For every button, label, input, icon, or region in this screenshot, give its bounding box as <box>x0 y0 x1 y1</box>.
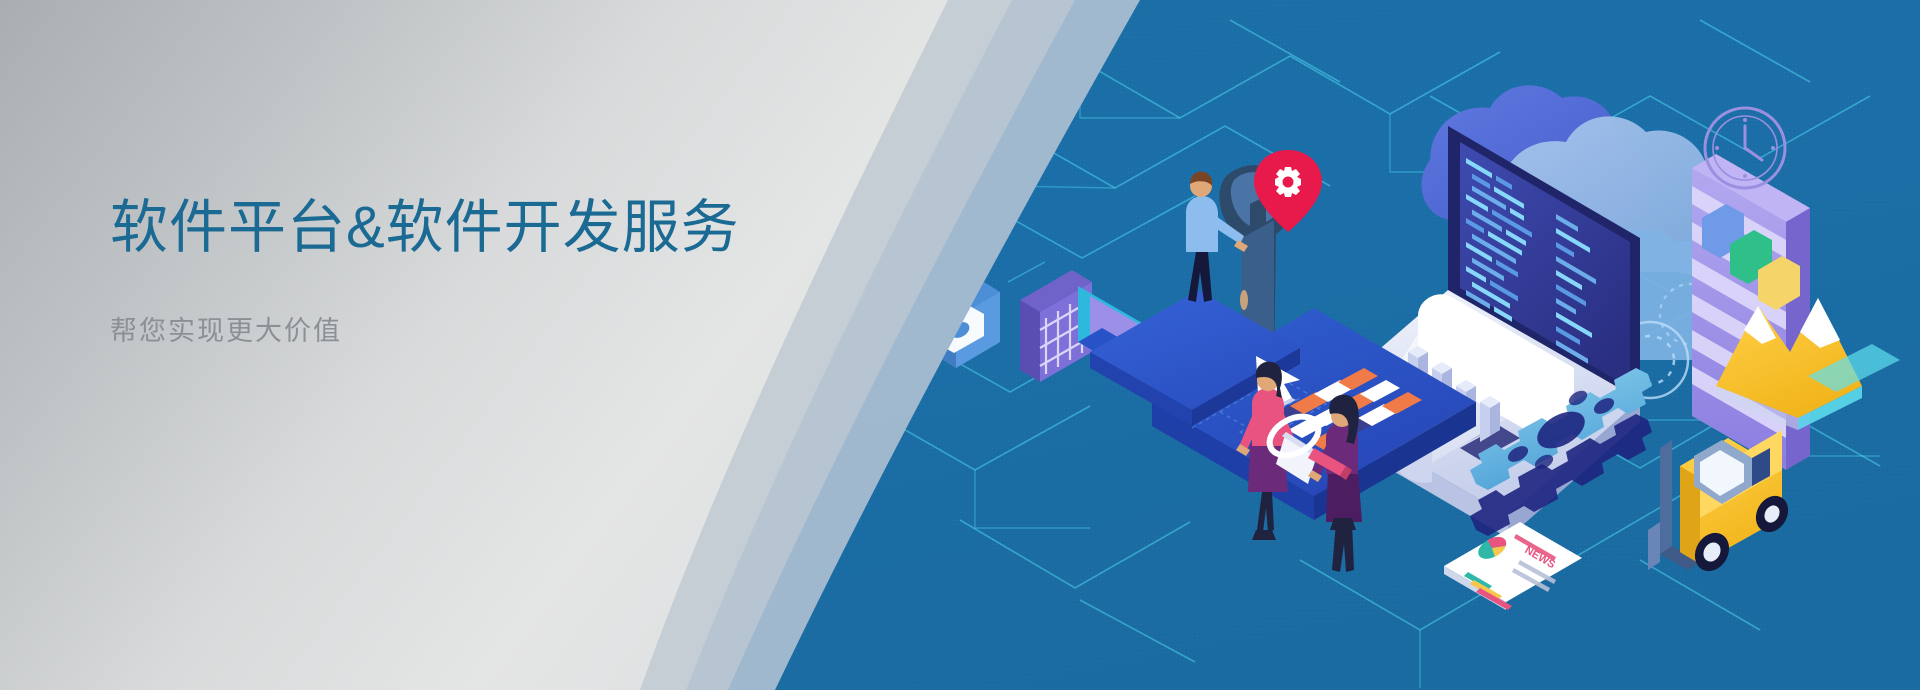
page-subtitle: 帮您实现更大价值 <box>110 309 870 348</box>
forklift-icon <box>1648 430 1794 577</box>
clock-icon <box>1705 108 1785 188</box>
banner-text-block: 软件平台&软件开发服务 帮您实现更大价值 <box>110 196 870 348</box>
camera-icon <box>924 272 1000 368</box>
shield-icon <box>920 155 998 300</box>
hero-banner: 软件平台&软件开发服务 帮您实现更大价值 <box>0 0 1920 690</box>
news-card: NEWS <box>1444 522 1582 610</box>
page-title: 软件平台&软件开发服务 <box>110 196 870 261</box>
